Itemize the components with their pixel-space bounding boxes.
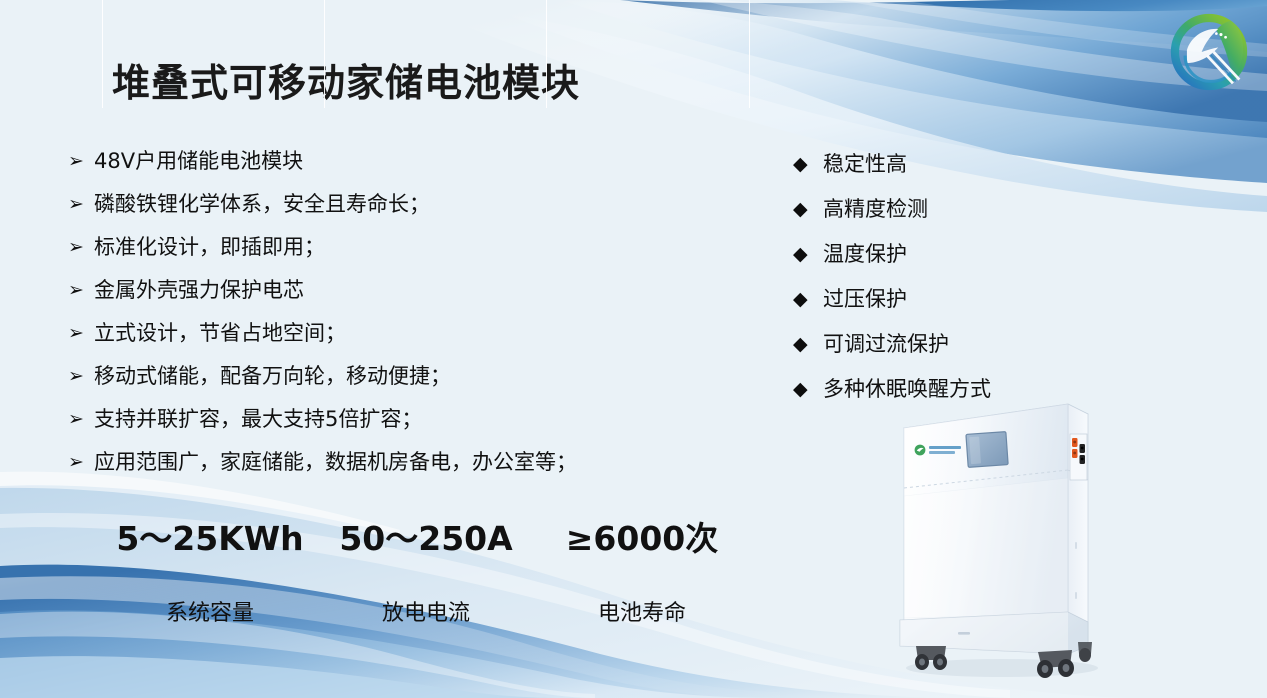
page-title: 堆叠式可移动家储电池模块 <box>112 52 580 107</box>
feature-text: 应用范围广，家庭储能，数据机房备电，办公室等； <box>94 449 577 475</box>
company-logo-icon <box>1163 6 1255 98</box>
stat-value: 5～25KWh <box>116 522 303 555</box>
stat-capacity: 5～25KWh 系统容量 <box>102 508 318 616</box>
feature-text: 可调过流保护 <box>823 330 949 358</box>
diamond-bullet-icon: ◆ <box>793 195 823 223</box>
list-item: ◆ 多种休眠唤醒方式 <box>793 375 1053 403</box>
product-image-battery-cabinet <box>872 392 1120 684</box>
diamond-bullet-icon: ◆ <box>793 330 823 358</box>
stat-divider <box>546 0 547 108</box>
list-item: ◆ 温度保护 <box>793 240 1053 268</box>
list-item: ➢ 支持并联扩容，最大支持5倍扩容； <box>68 406 708 432</box>
stat-value: 50～250A <box>339 522 512 555</box>
feature-text: 高精度检测 <box>823 195 928 223</box>
feature-text: 标准化设计，即插即用； <box>94 234 325 260</box>
arrow-bullet-icon: ➢ <box>68 277 94 303</box>
list-item: ➢ 磷酸铁锂化学体系，安全且寿命长； <box>68 191 708 217</box>
spec-summary-strip: 5～25KWh 系统容量 50～250A 放电电流 ≥6000次 电池寿命 <box>102 508 750 616</box>
list-item: ➢ 48V户用储能电池模块 <box>68 148 708 174</box>
stat-label: 放电电流 <box>382 595 470 627</box>
diamond-bullet-icon: ◆ <box>793 375 823 403</box>
list-item: ➢ 应用范围广，家庭储能，数据机房备电，办公室等； <box>68 449 708 475</box>
feature-text: 稳定性高 <box>823 150 907 178</box>
stat-divider <box>102 0 103 108</box>
feature-text: 立式设计，节省占地空间； <box>94 320 346 346</box>
feature-text: 支持并联扩容，最大支持5倍扩容； <box>94 406 422 432</box>
stat-label: 系统容量 <box>166 595 254 627</box>
arrow-bullet-icon: ➢ <box>68 406 94 432</box>
list-item: ➢ 移动式储能，配备万向轮，移动便捷； <box>68 363 708 389</box>
feature-text: 多种休眠唤醒方式 <box>823 375 991 403</box>
diamond-bullet-icon: ◆ <box>793 240 823 268</box>
list-item: ◆ 高精度检测 <box>793 195 1053 223</box>
arrow-bullet-icon: ➢ <box>68 234 94 260</box>
feature-text: 金属外壳强力保护电芯 <box>94 277 304 303</box>
list-item: ➢ 立式设计，节省占地空间； <box>68 320 708 346</box>
arrow-bullet-icon: ➢ <box>68 148 94 174</box>
stat-divider <box>749 0 750 108</box>
list-item: ◆ 可调过流保护 <box>793 330 1053 358</box>
list-item: ◆ 过压保护 <box>793 285 1053 313</box>
stat-cycle-life: ≥6000次 电池寿命 <box>534 508 750 616</box>
feature-text: 过压保护 <box>823 285 907 313</box>
stat-divider <box>324 0 325 108</box>
arrow-bullet-icon: ➢ <box>68 363 94 389</box>
feature-text: 移动式储能，配备万向轮，移动便捷； <box>94 363 451 389</box>
arrow-bullet-icon: ➢ <box>68 449 94 475</box>
list-item: ◆ 稳定性高 <box>793 150 1053 178</box>
feature-list-left: ➢ 48V户用储能电池模块 ➢ 磷酸铁锂化学体系，安全且寿命长； ➢ 标准化设计… <box>68 148 708 492</box>
feature-text: 温度保护 <box>823 240 907 268</box>
arrow-bullet-icon: ➢ <box>68 320 94 346</box>
arrow-bullet-icon: ➢ <box>68 191 94 217</box>
diamond-bullet-icon: ◆ <box>793 285 823 313</box>
slide-canvas: 堆叠式可移动家储电池模块 ➢ 48V户用储能电池模块 ➢ 磷酸铁锂化学体系，安全… <box>0 0 1267 698</box>
stat-label: 电池寿命 <box>598 595 686 627</box>
stat-value: ≥6000次 <box>566 522 719 555</box>
feature-text: 48V户用储能电池模块 <box>94 148 303 174</box>
list-item: ➢ 金属外壳强力保护电芯 <box>68 277 708 303</box>
list-item: ➢ 标准化设计，即插即用； <box>68 234 708 260</box>
diamond-bullet-icon: ◆ <box>793 150 823 178</box>
feature-text: 磷酸铁锂化学体系，安全且寿命长； <box>94 191 430 217</box>
feature-list-right: ◆ 稳定性高 ◆ 高精度检测 ◆ 温度保护 ◆ 过压保护 ◆ 可调过流保护 ◆ … <box>793 150 1053 420</box>
stat-discharge-current: 50～250A 放电电流 <box>318 508 534 616</box>
